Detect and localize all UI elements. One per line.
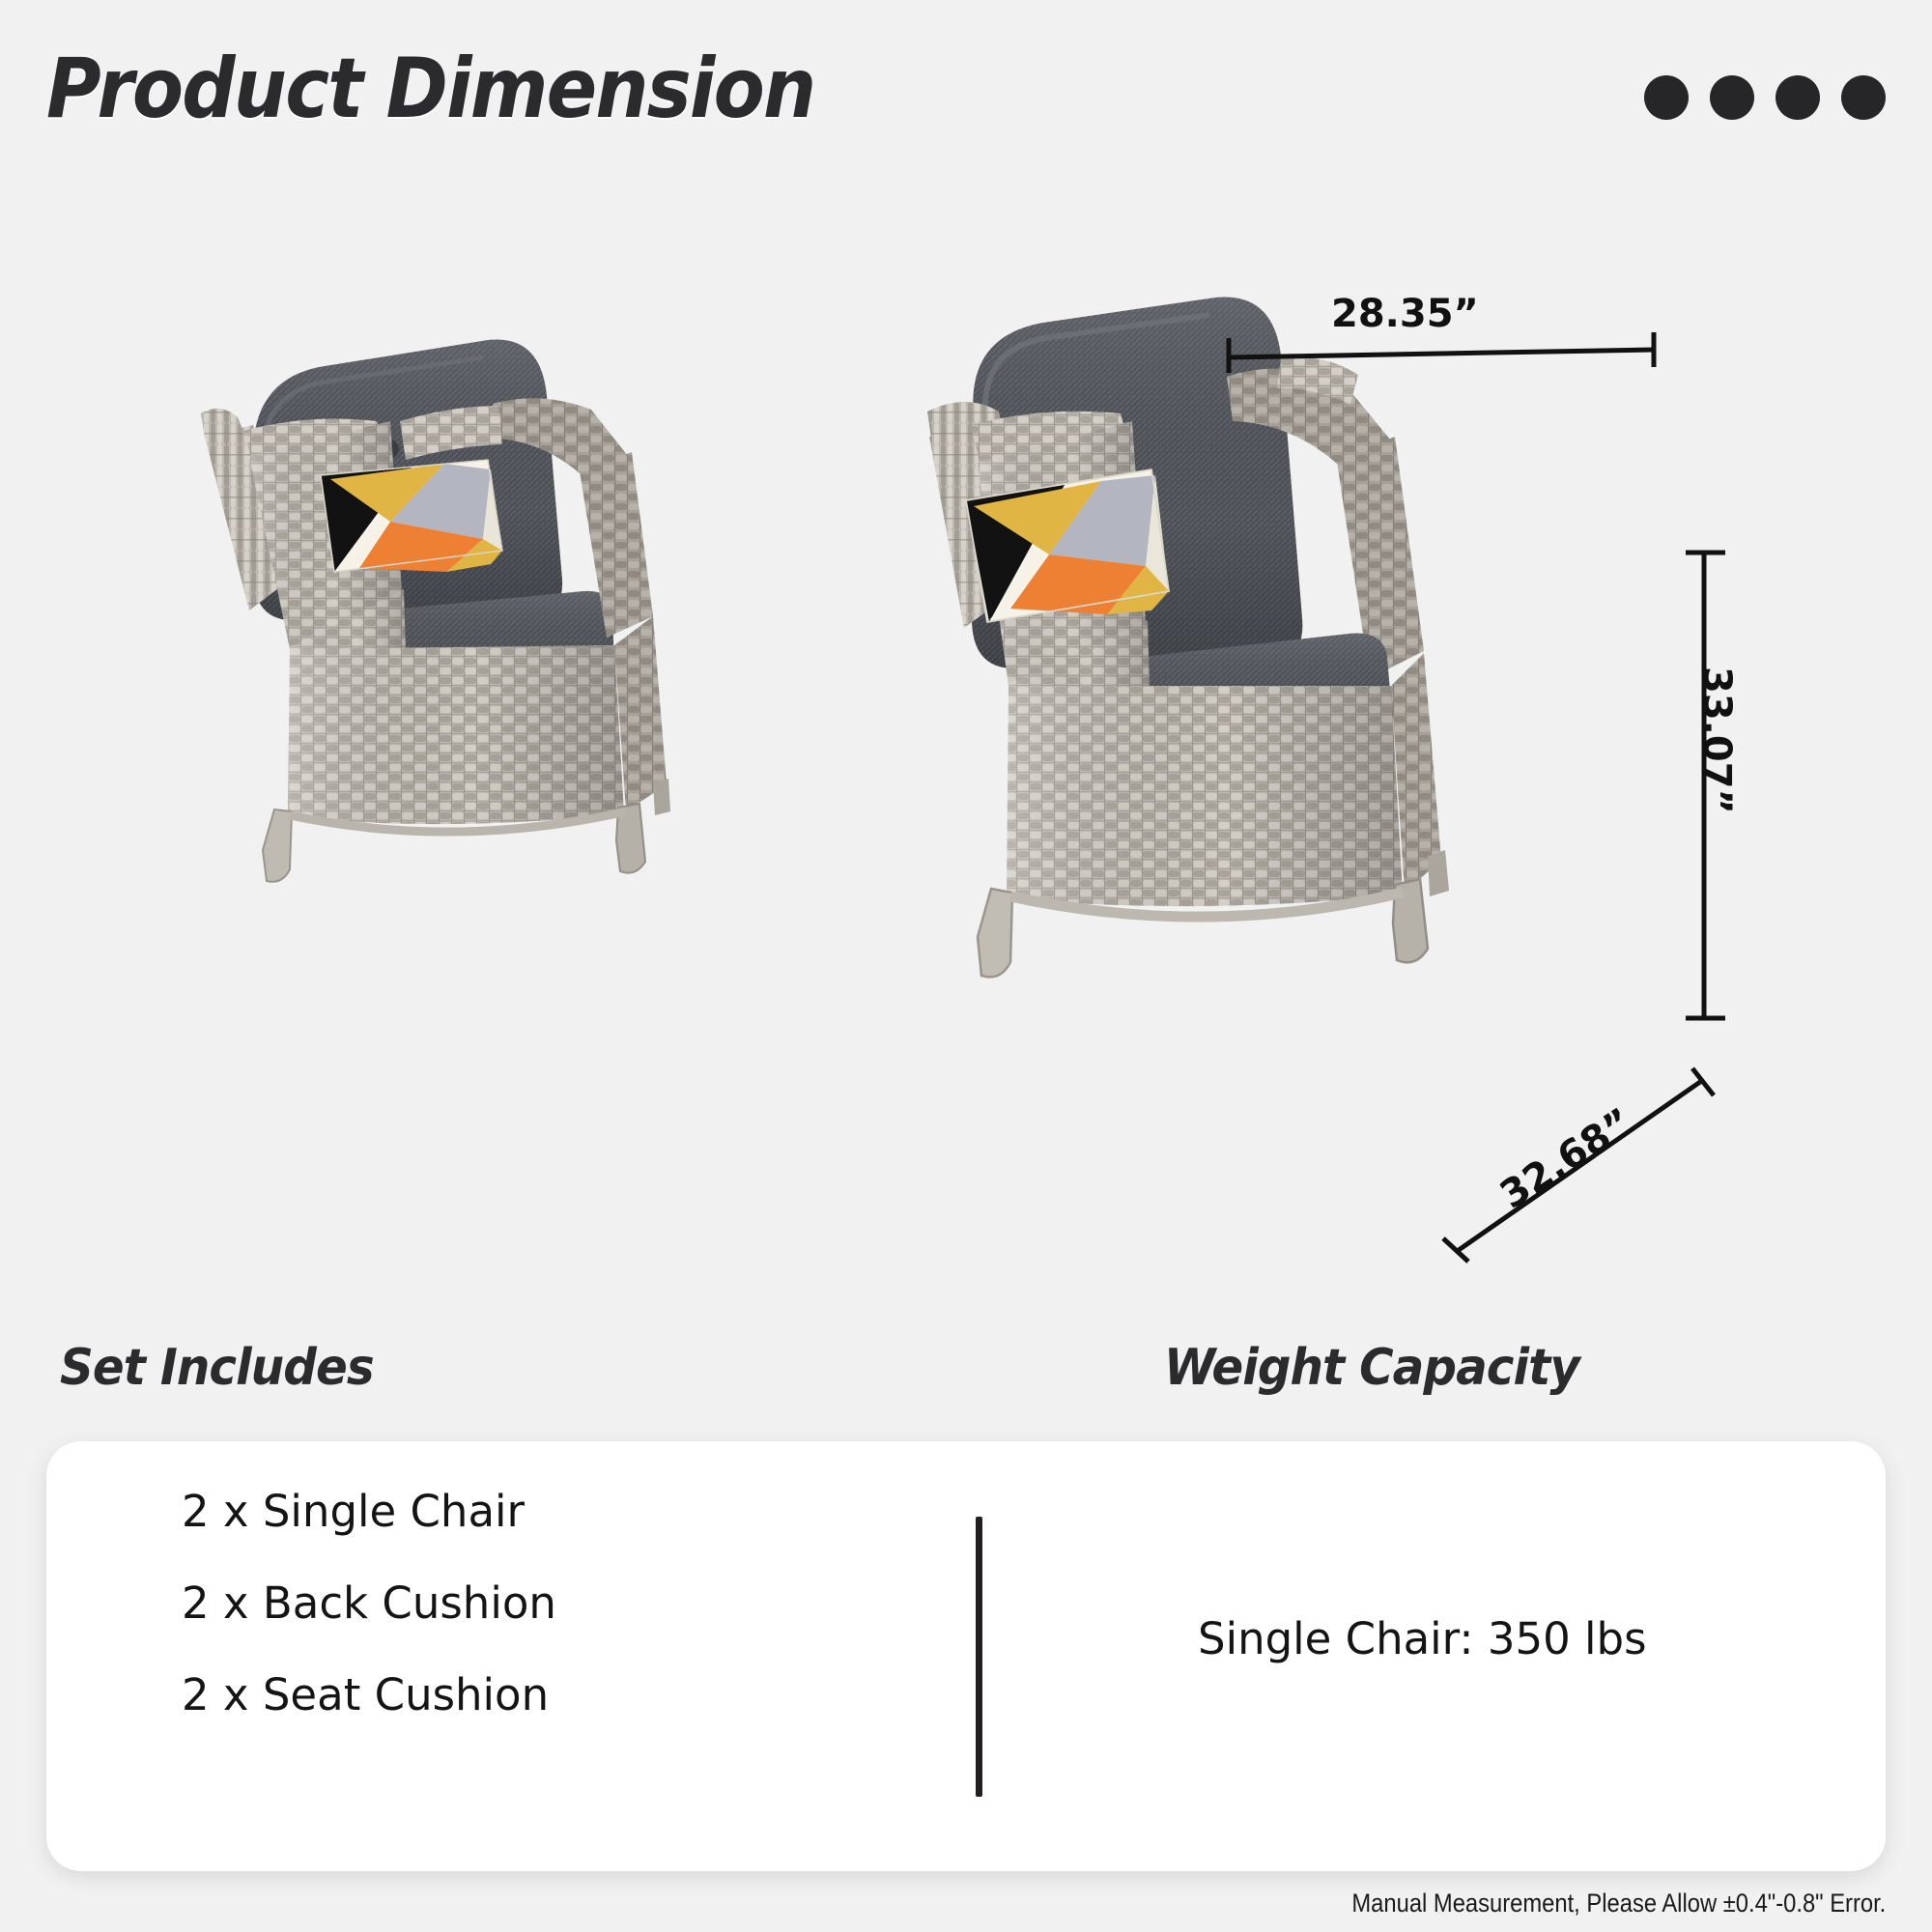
chair-right [927, 298, 1449, 978]
chair-left [201, 339, 670, 881]
dot-icon [1841, 75, 1886, 120]
list-item: 2 x Back Cushion [182, 1577, 556, 1629]
dot-icon [1776, 75, 1820, 120]
accent-pillow-left [321, 460, 502, 572]
product-illustration [0, 232, 1932, 1285]
card-divider [976, 1517, 982, 1797]
infographic-canvas: Product Dimension [0, 0, 1932, 1932]
dimension-label-height: 33.07” [1694, 667, 1739, 814]
set-includes-list: 2 x Single Chair 2 x Back Cushion 2 x Se… [182, 1486, 556, 1720]
decorative-dots [1644, 75, 1886, 120]
base-chair-right [1007, 653, 1441, 906]
info-card: 2 x Single Chair 2 x Back Cushion 2 x Se… [46, 1441, 1886, 1871]
dot-icon [1644, 75, 1689, 120]
dot-icon [1710, 75, 1754, 120]
measurement-disclaimer: Manual Measurement, Please Allow ±0.4"-0… [1351, 1889, 1886, 1918]
list-item: 2 x Seat Cushion [182, 1669, 556, 1720]
page-title: Product Dimension [46, 41, 814, 137]
dimension-label-width: 28.35” [1331, 292, 1479, 336]
weight-capacity-value: Single Chair: 350 lbs [1198, 1613, 1647, 1664]
weight-capacity-heading: Weight Capacity [1164, 1339, 1579, 1397]
set-includes-heading: Set Includes [60, 1339, 374, 1397]
list-item: 2 x Single Chair [182, 1486, 556, 1537]
